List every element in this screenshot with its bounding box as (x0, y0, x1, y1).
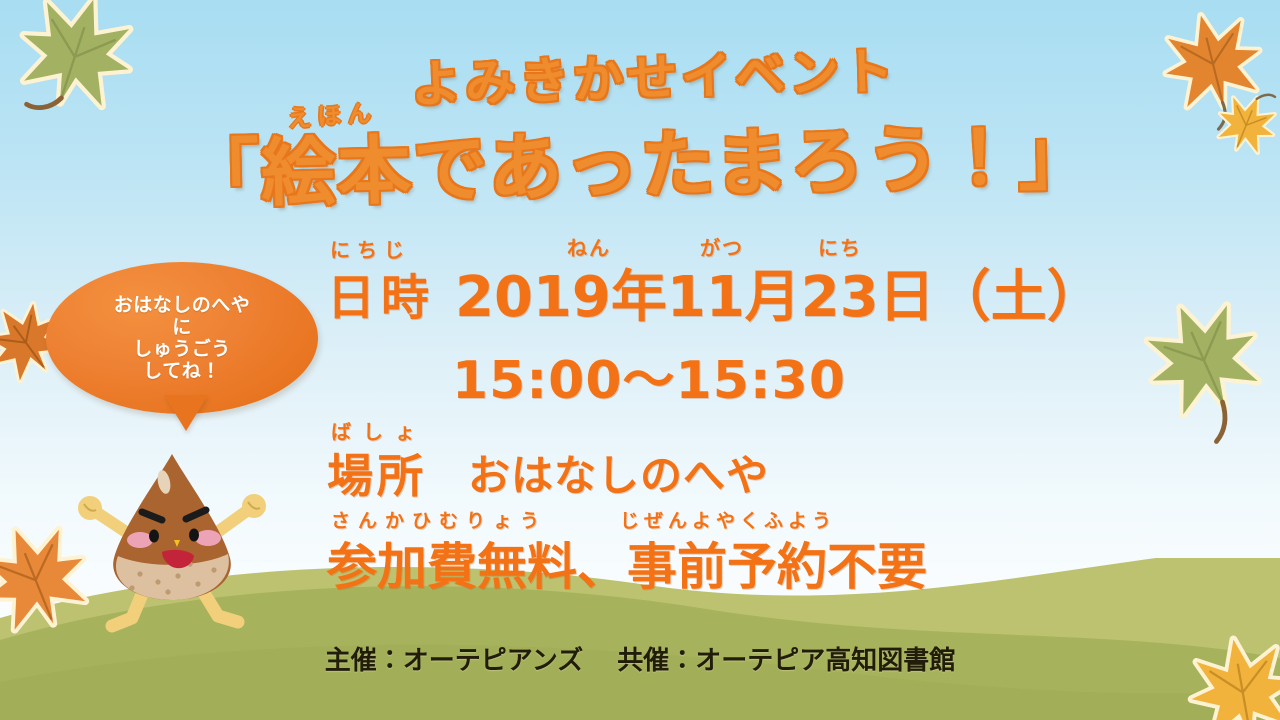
ruby-ehon: えほん (286, 93, 378, 134)
bubble-line-4: してね！ (143, 360, 220, 382)
event-poster: よみきかせイベント 「絵本であったまろう！」 えほん おはなしのへや に しゅう… (0, 0, 1280, 720)
bubble-line-1: おはなしのへや (114, 294, 251, 316)
place-value: おはなしのへや (468, 442, 769, 503)
speech-bubble: おはなしのへや に しゅうごう してね！ (46, 262, 318, 414)
place-label: 場所 (327, 440, 427, 506)
fee-text: 参加費無料、事前予約不要 (327, 527, 927, 599)
maple-leaf-green-right-icon (1123, 277, 1280, 435)
bubble-line-3: しゅうごう (133, 338, 231, 360)
datetime-time: 15:00～15:30 (452, 338, 846, 413)
datetime-value: 2019年11月23日（土） (455, 252, 1103, 333)
organizer-text: 主催：オーテピアンズ (325, 646, 583, 676)
coorganizer-text: 共催：オーテピア高知図書館 (617, 646, 955, 676)
datetime-label: 日時 (327, 258, 435, 328)
speech-bubble-text: おはなしのへや に しゅうごう してね！ (46, 262, 318, 414)
headline-block: よみきかせイベント 「絵本であったまろう！」 (0, 38, 1280, 213)
bubble-line-2: に (172, 316, 192, 338)
chestnut-mascot (62, 440, 282, 630)
footer-credits: 主催：オーテピアンズ共催：オーテピア高知図書館 (0, 640, 1280, 677)
